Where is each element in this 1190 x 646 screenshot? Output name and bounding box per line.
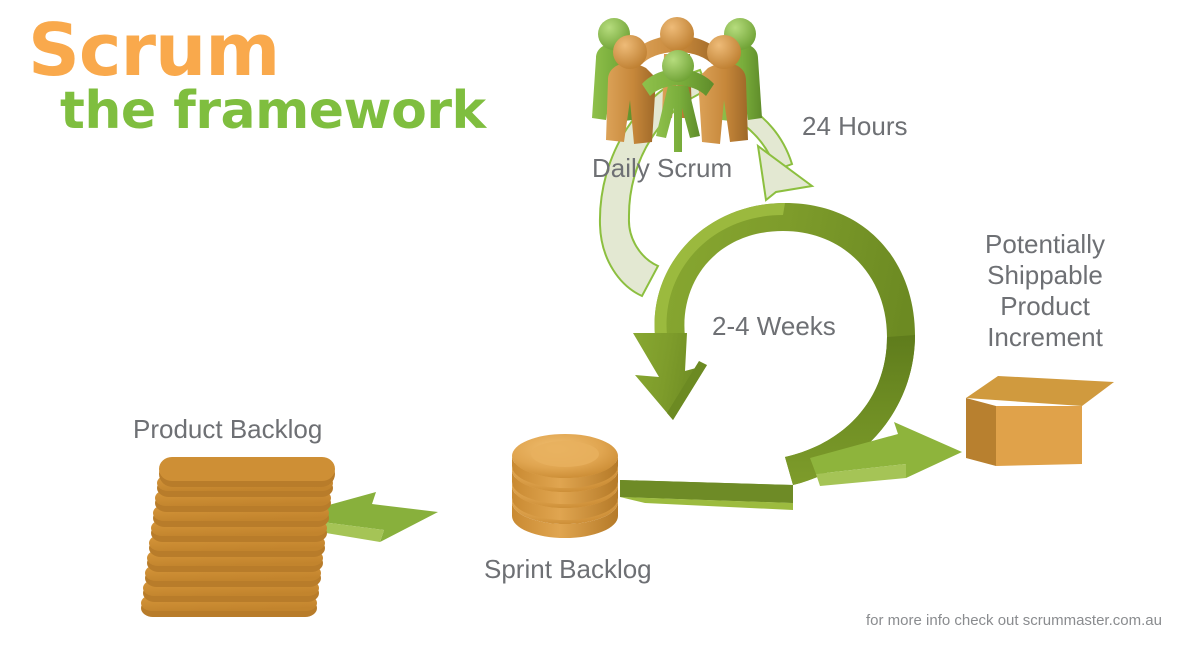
product-backlog-plates bbox=[141, 457, 335, 617]
increment-line-3: Product bbox=[955, 291, 1135, 322]
sprint-backlog-discs-icon bbox=[502, 440, 628, 550]
box-front-face bbox=[996, 406, 1082, 466]
label-product-increment: Potentially Shippable Product Increment bbox=[955, 229, 1135, 353]
page-title: Scrum bbox=[28, 12, 486, 88]
product-backlog-stack-icon bbox=[125, 455, 340, 625]
box-left-face bbox=[966, 398, 996, 466]
increment-line-4: Increment bbox=[955, 322, 1135, 353]
label-24-hours: 24 Hours bbox=[802, 111, 908, 141]
label-daily-scrum: Daily Scrum bbox=[592, 153, 732, 183]
scrum-team-figures-icon bbox=[572, 2, 782, 154]
label-sprint-backlog: Sprint Backlog bbox=[484, 554, 652, 584]
label-sprint-duration: 2-4 Weeks bbox=[712, 311, 836, 341]
product-increment-box-icon bbox=[958, 368, 1128, 478]
increment-line-2: Shippable bbox=[955, 260, 1135, 291]
footer-credit: for more info check out scrummaster.com.… bbox=[866, 612, 1162, 629]
label-product-backlog: Product Backlog bbox=[133, 414, 322, 444]
page-subtitle: the framework bbox=[60, 82, 486, 140]
title-block: Scrum the framework bbox=[28, 12, 486, 140]
increment-line-1: Potentially bbox=[955, 229, 1135, 260]
scrum-framework-diagram: Scrum the framework bbox=[0, 0, 1190, 646]
